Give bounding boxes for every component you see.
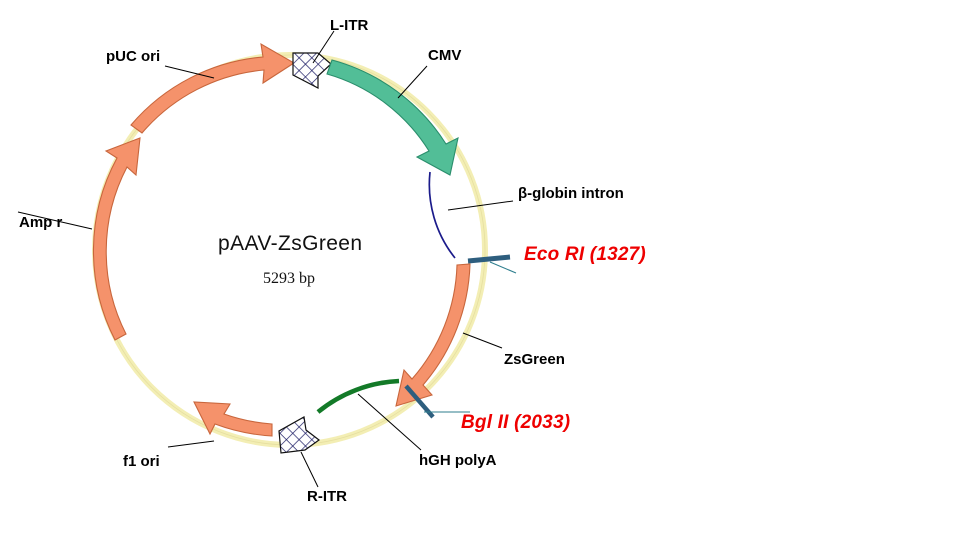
restriction-site-label-bglii[interactable]: Bgl II (2033)	[461, 413, 570, 432]
feature-label-beta-globin-intron[interactable]: β-globin intron	[518, 186, 624, 201]
feature-label-zsgreen[interactable]: ZsGreen	[504, 352, 565, 367]
restriction-site-label-ecori[interactable]: Eco RI (1327)	[524, 245, 646, 264]
feature-beta-globin-intron[interactable]	[429, 172, 455, 258]
feature-cmv[interactable]	[327, 60, 458, 175]
plasmid-size: 5293 bp	[263, 270, 315, 288]
feature-label-amp-r[interactable]: Amp r	[19, 215, 62, 230]
feature-label-hgh-polya[interactable]: hGH polyA	[419, 453, 497, 468]
leader-cmv	[398, 66, 427, 98]
feature-r-itr[interactable]	[279, 417, 319, 453]
feature-hgh-polya[interactable]	[318, 381, 399, 412]
feature-f1-ori[interactable]	[194, 402, 272, 436]
plasmid-name: pAAV-ZsGreen	[218, 232, 362, 256]
feature-label-puc-ori[interactable]: pUC ori	[106, 49, 160, 64]
feature-label-f1-ori[interactable]: f1 ori	[123, 454, 160, 469]
feature-label-r-itr[interactable]: R-ITR	[307, 489, 347, 504]
feature-label-l-itr[interactable]: L-ITR	[330, 18, 368, 33]
feature-amp-r[interactable]	[93, 138, 140, 340]
feature-label-cmv[interactable]: CMV	[428, 48, 461, 63]
restriction-site-ecori[interactable]	[468, 257, 516, 273]
leader-f1-ori	[168, 441, 214, 447]
leader-zsgreen	[463, 333, 502, 348]
leader-r-itr	[301, 452, 318, 487]
